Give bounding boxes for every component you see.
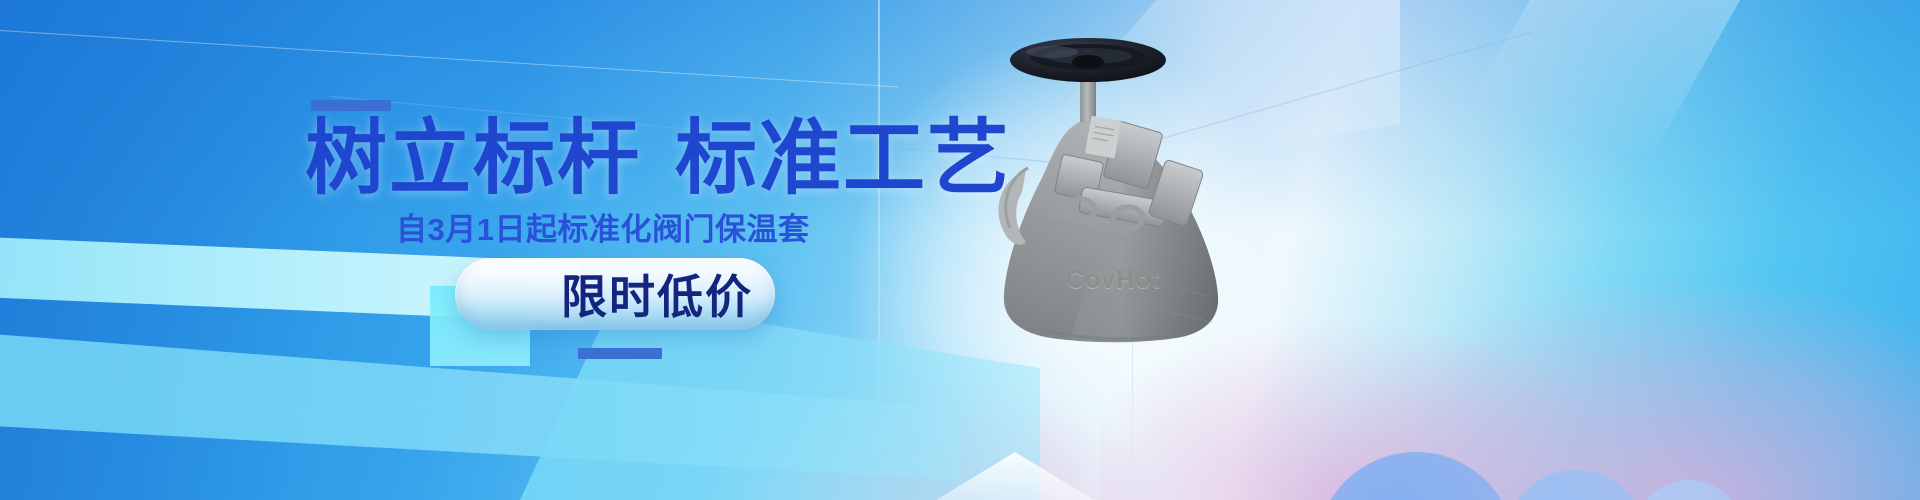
accent-bar-top <box>311 100 391 111</box>
banner-subtitle: 自3月1日起标准化阀门保温套 <box>396 214 809 245</box>
promo-banner: 树立标杆标准工艺 自3月1日起标准化阀门保温套 限时低价 <box>0 0 1920 500</box>
product-image <box>930 18 1270 363</box>
limited-time-price-button[interactable]: 限时低价 <box>455 258 775 330</box>
cta-label: 限时低价 <box>561 261 753 327</box>
product-brand-label: CovHot <box>1066 266 1161 295</box>
banner-copy-block: 树立标杆标准工艺 自3月1日起标准化阀门保温套 限时低价 <box>0 0 1000 500</box>
accent-bar-bottom <box>578 348 662 359</box>
page-title: 树立标杆标准工艺 <box>305 118 1011 200</box>
headline-part-1: 树立标杆 <box>305 113 641 204</box>
